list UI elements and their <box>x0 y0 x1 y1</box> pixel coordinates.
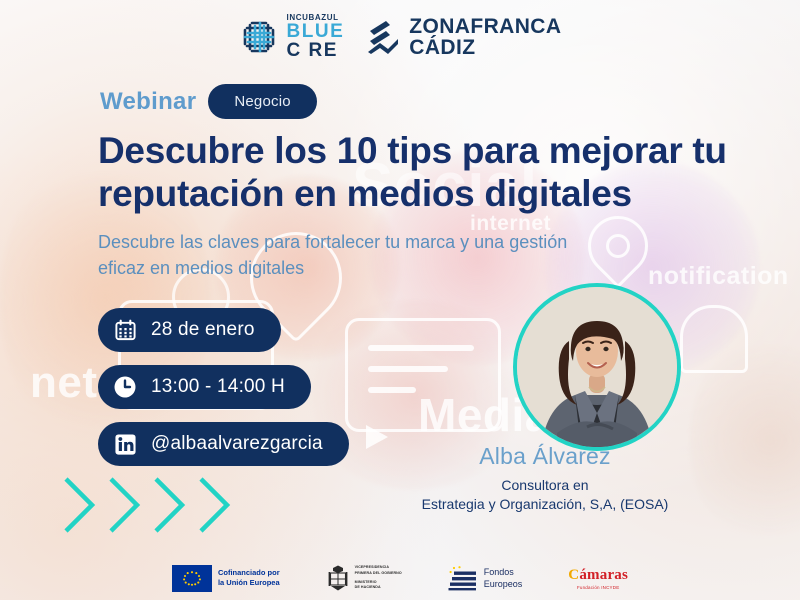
chevron-right-icon <box>150 474 190 536</box>
category-badge[interactable]: Negocio <box>208 84 316 119</box>
page-subtitle: Descubre las claves para fortalecer tu m… <box>98 230 578 281</box>
footer-logos: Cofinanciado por la Unión Europea VICEPR… <box>0 564 800 592</box>
fondos-europeos-mark-icon <box>448 565 478 591</box>
zonafranca-line-1: ZONAFRANCA <box>409 16 561 37</box>
camaras-subtitle: Fundación INCYDE <box>577 585 619 590</box>
linkedin-icon <box>112 431 138 457</box>
info-pill-time[interactable]: 13:00 - 14:00 H <box>98 365 311 409</box>
speaker-photo <box>513 283 681 451</box>
camaras-initial: C <box>568 567 579 583</box>
calendar-icon <box>112 317 138 343</box>
eu-text-line-1: Cofinanciado por <box>218 568 280 578</box>
speaker-role-line-2: Estrategia y Organización, S,A, (EOSA) <box>380 495 710 514</box>
eyebrow-row: Webinar Negocio <box>100 84 317 119</box>
speaker-info: Alba Álvarez Consultora en Estrategia y … <box>380 443 710 515</box>
chevron-right-icon <box>105 474 145 536</box>
poster-canvas: net Social internet Media notification <box>0 0 800 600</box>
logo-zonafranca-cadiz[interactable]: ZONAFRANCA CÁDIZ <box>366 16 561 59</box>
background-word-net: net <box>30 358 98 408</box>
chevron-decoration <box>60 474 235 536</box>
logo-incubazul[interactable]: INCUBAZUL BLUE C RE <box>239 14 345 60</box>
logo-fondos-europeos[interactable]: Fondos Europeos <box>448 565 523 591</box>
logo-european-union[interactable]: Cofinanciado por la Unión Europea <box>172 565 280 592</box>
bubble-line <box>368 387 416 393</box>
chevron-right-icon <box>60 474 100 536</box>
speaker-role: Consultora en Estrategia y Organización,… <box>380 476 710 515</box>
info-pill-list: 28 de enero 13:00 - 14:00 H @albaalv <box>98 308 349 466</box>
spain-coat-of-arms-icon <box>326 564 350 592</box>
page-title: Descubre los 10 tips para mejorar tu rep… <box>98 130 758 216</box>
info-pill-linkedin[interactable]: @albaalvarezgarcia <box>98 422 349 466</box>
fondos-line-1: Fondos <box>484 566 523 578</box>
info-pill-linkedin-text: @albaalvarezgarcia <box>151 433 323 455</box>
chevron-right-icon <box>195 474 235 536</box>
webinar-label: Webinar <box>100 88 196 116</box>
incubazul-mark-icon <box>239 17 279 57</box>
camaras-wordmark: Cámaras <box>568 567 628 584</box>
speaker-name: Alba Álvarez <box>380 443 710 470</box>
zonafranca-line-2: CÁDIZ <box>409 37 561 58</box>
bubble-line <box>368 345 474 351</box>
fondos-line-2: Europeos <box>484 578 523 590</box>
info-pill-date[interactable]: 28 de enero <box>98 308 281 352</box>
header-logos: INCUBAZUL BLUE C RE ZONAFRANCA CÁDIZ <box>0 14 800 60</box>
gobierno-line-4: DE HACIENDA <box>355 585 402 590</box>
logo-camaras-incyde[interactable]: Cámaras Fundación INCYDE <box>568 567 628 590</box>
speaker-role-line-1: Consultora en <box>380 476 710 495</box>
speaker-portrait-illustration <box>517 287 677 447</box>
gobierno-line-2: PRIMERA DEL GOBIERNO <box>355 571 402 576</box>
zonafranca-mark-icon <box>366 19 400 55</box>
logo-gobierno-de-espana[interactable]: VICEPRESIDENCIA PRIMERA DEL GOBIERNO MIN… <box>326 564 402 592</box>
incubazul-wordmark-blue: BLUE <box>287 22 345 41</box>
eu-text-line-2: la Unión Europea <box>218 578 280 588</box>
bell-outline-icon <box>680 305 748 373</box>
clock-icon <box>112 374 138 400</box>
info-pill-date-text: 28 de enero <box>151 319 255 341</box>
location-pin-dot <box>606 234 630 258</box>
info-pill-time-text: 13:00 - 14:00 H <box>151 376 285 398</box>
camaras-rest: ámaras <box>579 567 628 583</box>
incubazul-wordmark-core: C RE <box>287 41 345 60</box>
eu-flag-icon <box>172 565 212 592</box>
bubble-line <box>368 366 448 372</box>
